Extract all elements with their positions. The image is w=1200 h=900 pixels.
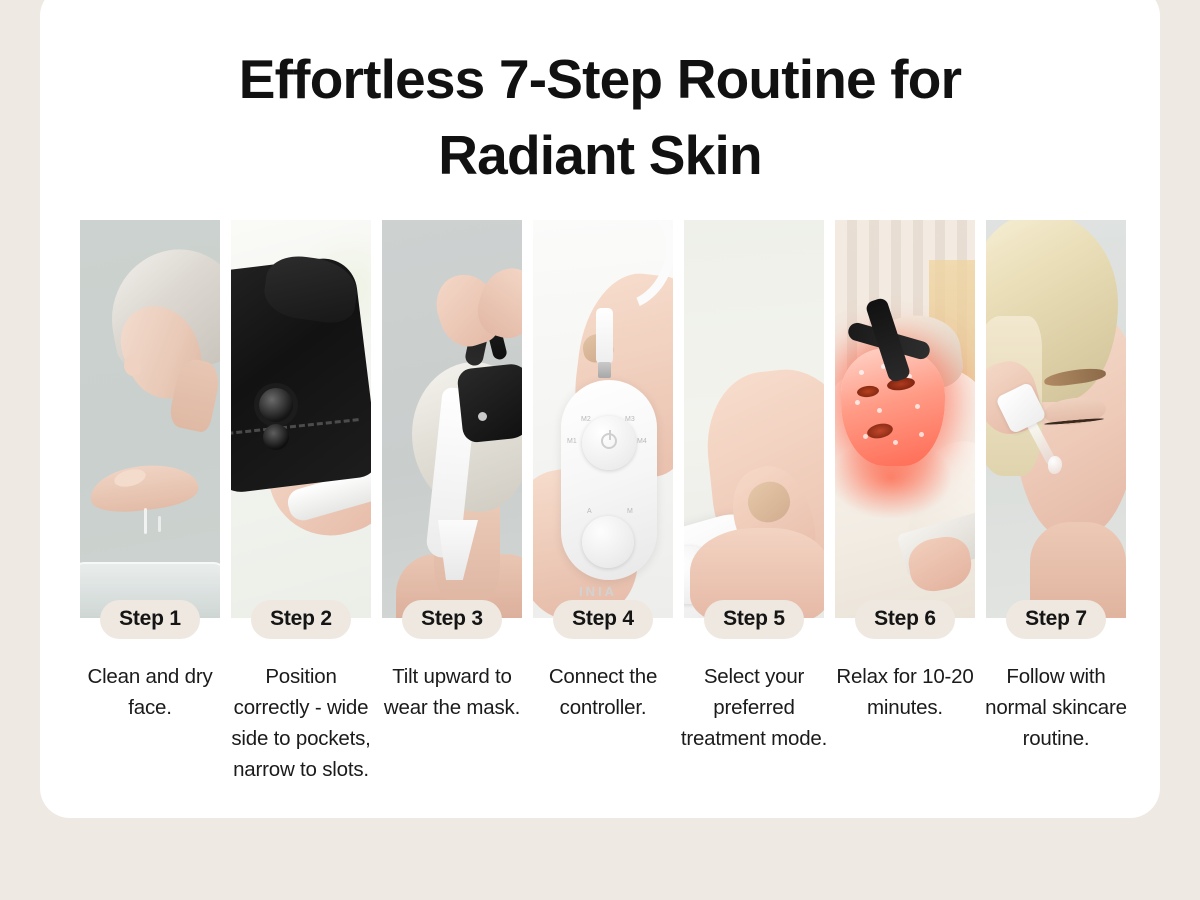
step-photo-wrapper <box>986 220 1126 618</box>
snap-button-lower <box>263 424 289 450</box>
step-badge: Step 5 <box>704 600 804 639</box>
strap-snap-dot <box>478 412 487 421</box>
step-badge: Step 6 <box>855 600 955 639</box>
water-drip <box>144 508 147 534</box>
led-dot <box>859 370 864 375</box>
step-6-photo-relax-led-mask <box>835 220 975 618</box>
step-caption: Connect the controller. <box>527 661 679 723</box>
led-dot <box>915 404 920 409</box>
water-drip <box>158 516 161 532</box>
step-badge: Step 3 <box>402 600 502 639</box>
usb-plug <box>596 308 613 364</box>
step-card[interactable]: Step 3 Tilt upward to wear the mask. <box>382 220 522 786</box>
step-caption: Tilt upward to wear the mask. <box>376 661 528 723</box>
step-badge: Step 2 <box>251 600 351 639</box>
led-dot <box>855 400 860 405</box>
step-photo-wrapper: INIA <box>684 220 824 618</box>
page-title: Effortless 7-Step Routine for Radiant Sk… <box>170 0 1030 194</box>
dial-label-m: M <box>627 508 633 515</box>
step-photo-wrapper: M1 M2 M3 M4 A M INIA <box>533 220 673 618</box>
snap-button <box>259 388 293 422</box>
step-caption: Relax for 10-20 minutes. <box>829 661 981 723</box>
step-caption: Position correctly - wide side to pocket… <box>225 661 377 786</box>
step-photo-wrapper <box>382 220 522 618</box>
mode-label-m2: M2 <box>581 416 591 423</box>
step-5-photo-select-treatment-mode: INIA <box>684 220 824 618</box>
step-badge: Step 4 <box>553 600 653 639</box>
step-badge: Step 1 <box>100 600 200 639</box>
step-3-photo-tilt-upward-wear-mask <box>382 220 522 618</box>
power-icon <box>601 433 617 449</box>
step-caption: Select your preferred treatment mode. <box>678 661 830 754</box>
step-2-photo-position-mask-pouch <box>231 220 371 618</box>
step-caption: Clean and dry face. <box>74 661 226 723</box>
step-card[interactable]: Step 7 Follow with normal skincare routi… <box>986 220 1126 786</box>
step-card[interactable]: Step 1 Clean and dry face. <box>80 220 220 786</box>
brand-label: INIA <box>579 584 617 599</box>
mode-label-m1: M1 <box>567 438 577 445</box>
routine-card: Effortless 7-Step Routine for Radiant Sk… <box>40 0 1160 818</box>
dial-label-a: A <box>587 508 592 515</box>
steps-row: Step 1 Clean and dry face. <box>80 220 1120 786</box>
step-card[interactable]: Step 2 Position correctly - wide side to… <box>231 220 371 786</box>
mode-label-m4: M4 <box>637 438 647 445</box>
led-dot <box>877 408 882 413</box>
step-7-photo-apply-serum <box>986 220 1126 618</box>
step-caption: Follow with normal skincare routine. <box>980 661 1132 754</box>
step-card[interactable]: M1 M2 M3 M4 A M INIA Step 4 Connect the … <box>533 220 673 786</box>
mode-knob[interactable] <box>582 516 634 568</box>
led-dot <box>919 432 924 437</box>
step-photo-wrapper <box>231 220 371 618</box>
step-4-photo-connect-controller: M1 M2 M3 M4 A M INIA <box>533 220 673 618</box>
step-card[interactable]: INIA Step 5 Select your preferred treatm… <box>684 220 824 786</box>
black-head-strap <box>456 362 522 443</box>
led-dot <box>893 440 898 445</box>
step-card[interactable]: Step 6 Relax for 10-20 minutes. <box>835 220 975 786</box>
usb-connector-tip <box>598 362 611 378</box>
step-photo-wrapper <box>80 220 220 618</box>
step-photo-wrapper <box>835 220 975 618</box>
step-1-photo-clean-dry-face <box>80 220 220 618</box>
step-badge: Step 7 <box>1006 600 1106 639</box>
